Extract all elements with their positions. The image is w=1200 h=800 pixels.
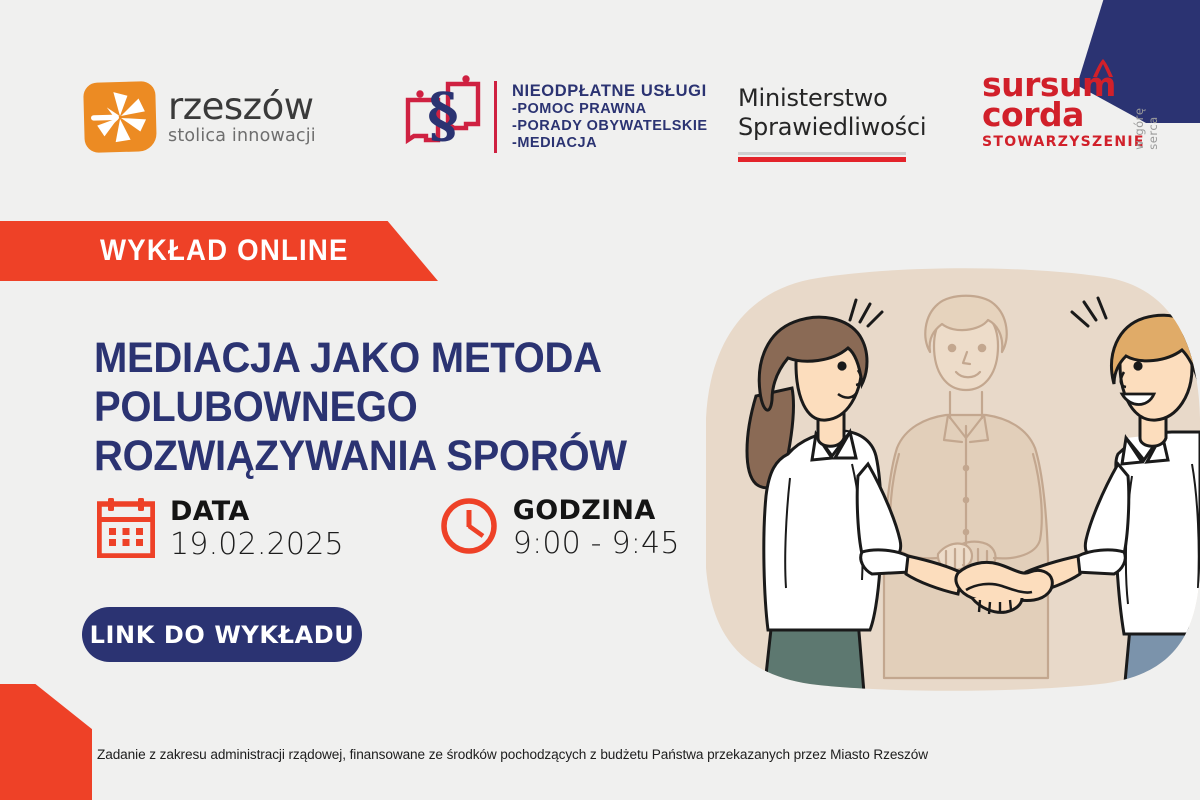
- headline-line-3: ROZWIĄZYWANIA SPORÓW: [94, 432, 627, 480]
- sursum-corda-motto: w górę serca: [1132, 84, 1160, 150]
- event-time: GODZINA 9:00 - 9:45: [440, 496, 680, 561]
- ribbon-label: WYKŁAD ONLINE: [100, 234, 349, 268]
- event-time-value: 9:00 - 9:45: [513, 528, 680, 559]
- event-meta-row: DATA 19.02.2025 GODZINA 9:00 - 9:45: [97, 496, 680, 563]
- funding-disclaimer: Zadanie z zakresu administracji rządowej…: [97, 747, 928, 763]
- headline-line-2: POLUBOWNEGO: [94, 383, 418, 431]
- logo-free-legal-aid: § NIEODPŁATNE USŁUGI -POMOC PRAWNA -PORA…: [404, 74, 708, 160]
- free-legal-aid-line-2: -PORADY OBYWATELSKIE: [512, 118, 708, 135]
- logo-divider: [494, 81, 497, 153]
- ministry-line-2: Sprawiedliwości: [738, 113, 926, 142]
- lecture-link-button[interactable]: LINK DO WYKŁADU: [82, 607, 362, 662]
- online-lecture-ribbon: WYKŁAD ONLINE: [0, 221, 438, 281]
- rzeszow-star-icon: [83, 81, 157, 153]
- event-date-value: 19.02.2025: [170, 529, 344, 560]
- sursum-corda-wordmark: sursum corda: [982, 70, 1145, 131]
- event-time-label: GODZINA: [513, 495, 656, 526]
- rzeszow-title: rzeszów: [168, 88, 316, 125]
- red-polygon-decoration: [0, 684, 92, 800]
- sursum-corda-block: sursum corda STOWARZYSZENIE w górę serca: [982, 70, 1145, 150]
- rzeszow-subtitle: stolica innowacji: [168, 128, 316, 146]
- heart-caret-icon: [1091, 58, 1115, 83]
- sursum-corda-association: STOWARZYSZENIE: [982, 134, 1145, 150]
- svg-text:§: §: [427, 81, 458, 151]
- speech-bubbles-paragraph-icon: §: [404, 74, 482, 160]
- event-time-text: GODZINA 9:00 - 9:45: [513, 497, 680, 559]
- event-date-text: DATA 19.02.2025: [170, 498, 344, 560]
- ministry-flag-bar: [738, 152, 906, 162]
- poster-canvas: rzeszów stolica innowacji § NIEODPŁ: [0, 0, 1200, 800]
- page-title: MEDIACJA JAKO METODA POLUBOWNEGO ROZWIĄZ…: [94, 334, 652, 481]
- rzeszow-wordmark: rzeszów stolica innowacji: [168, 88, 316, 146]
- event-date: DATA 19.02.2025: [97, 496, 344, 563]
- ministry-bar-red: [738, 157, 906, 162]
- logo-strip: rzeszów stolica innowacji § NIEODPŁ: [0, 62, 1200, 182]
- event-date-label: DATA: [170, 496, 250, 527]
- free-legal-aid-heading: NIEODPŁATNE USŁUGI: [512, 82, 708, 101]
- clock-icon: [440, 496, 498, 561]
- logo-sursum-corda: sursum corda STOWARZYSZENIE w górę serca: [982, 70, 1145, 150]
- logo-ministry-of-justice: Ministerstwo Sprawiedliwości: [738, 84, 926, 162]
- logo-rzeszow: rzeszów stolica innowacji: [84, 82, 316, 152]
- free-legal-aid-line-1: -POMOC PRAWNA: [512, 101, 708, 118]
- handshake-mediation-illustration: [700, 268, 1200, 693]
- calendar-icon: [97, 496, 155, 563]
- free-legal-aid-line-3: -MEDIACJA: [512, 135, 708, 152]
- ministry-line-1: Ministerstwo: [738, 84, 926, 113]
- free-legal-aid-text: NIEODPŁATNE USŁUGI -POMOC PRAWNA -PORADY…: [512, 82, 708, 153]
- ministry-bar-white: [738, 152, 906, 155]
- corda-word: corda: [982, 100, 1145, 130]
- headline-line-1: MEDIACJA JAKO METODA: [94, 334, 602, 382]
